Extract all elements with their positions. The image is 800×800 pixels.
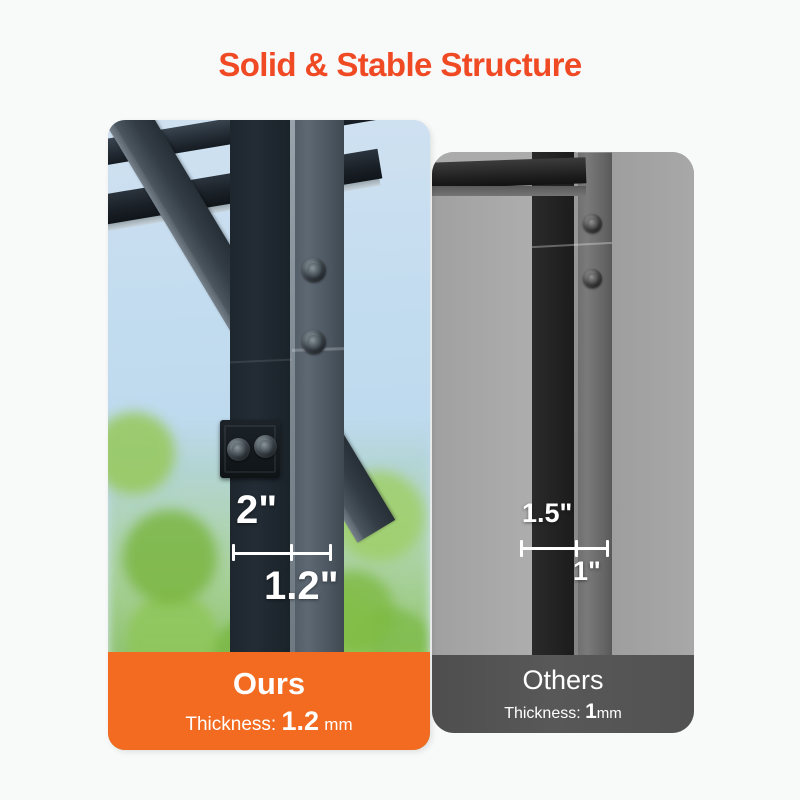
ours-thickness-value: 1.2 xyxy=(281,706,319,736)
ours-dimension-callout: 2" 1.2" xyxy=(232,488,392,608)
others-label-bar: Others Thickness: 1mm xyxy=(432,655,694,733)
ours-outer-dimension-label: 2" xyxy=(236,488,277,533)
ours-thickness-prefix: Thickness: xyxy=(185,714,276,735)
others-thickness: Thickness: 1mm xyxy=(504,701,622,722)
bolt-icon xyxy=(302,330,326,354)
ours-label-bar: Ours Thickness: 1.2 mm xyxy=(108,652,430,750)
bolt-icon xyxy=(227,438,250,461)
infographic-root: Solid & Stable Structure 1.5" 1" Others xyxy=(0,0,800,800)
others-product-photo xyxy=(432,152,694,733)
others-thickness-prefix: Thickness: xyxy=(504,705,580,722)
ours-inner-dimension-label: 1.2" xyxy=(264,564,339,609)
bolt-icon xyxy=(302,258,326,282)
bolt-icon xyxy=(583,214,602,233)
others-outer-dimension-label: 1.5" xyxy=(522,498,572,529)
bolt-icon xyxy=(583,269,602,288)
ours-title: Ours xyxy=(233,668,305,699)
bolt-icon xyxy=(254,435,277,458)
others-thickness-unit: mm xyxy=(597,705,622,722)
ours-thickness-unit: mm xyxy=(324,715,352,734)
others-thickness-value: 1 xyxy=(585,700,597,723)
others-title: Others xyxy=(522,667,603,694)
others-dimension-callout: 1.5" 1" xyxy=(520,498,640,598)
page-title: Solid & Stable Structure xyxy=(0,46,800,84)
others-panel xyxy=(432,152,694,733)
ours-thickness: Thickness: 1.2 mm xyxy=(185,708,352,735)
others-inner-dimension-label: 1" xyxy=(573,556,601,587)
